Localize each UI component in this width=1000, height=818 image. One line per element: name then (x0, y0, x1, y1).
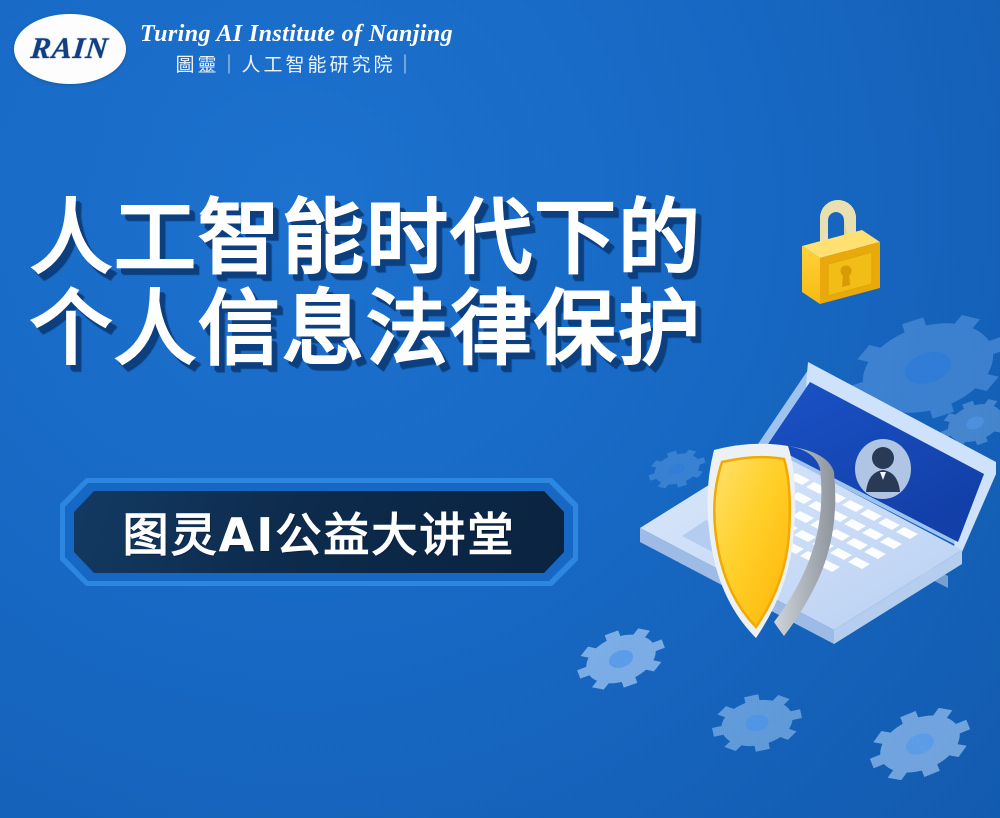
org-name-en: Turing AI Institute of Nanjing (140, 21, 453, 48)
shield-illustration (690, 438, 856, 655)
badge-fill: 图灵AI公益大讲堂 (74, 491, 564, 573)
logo-text: RAIN (30, 32, 111, 66)
poster-canvas: Login (0, 0, 1000, 818)
ellipse-logo-icon: RAIN (14, 14, 126, 84)
brand-header: RAIN Turing AI Institute of Nanjing 圖靈｜人… (14, 14, 453, 84)
org-name-block: Turing AI Institute of Nanjing 圖靈｜人工智能研究… (140, 21, 453, 77)
title-line-1: 人工智能时代下的 (30, 196, 702, 281)
padlock-icon (780, 190, 892, 319)
poster-title: 人工智能时代下的 个人信息法律保护 (30, 196, 702, 373)
series-badge: 图灵AI公益大讲堂 (60, 478, 578, 586)
title-line-2: 个人信息法律保护 (30, 287, 702, 372)
org-name-cn: 圖靈｜人工智能研究院｜ (140, 50, 453, 77)
badge-label: 图灵AI公益大讲堂 (123, 499, 516, 565)
